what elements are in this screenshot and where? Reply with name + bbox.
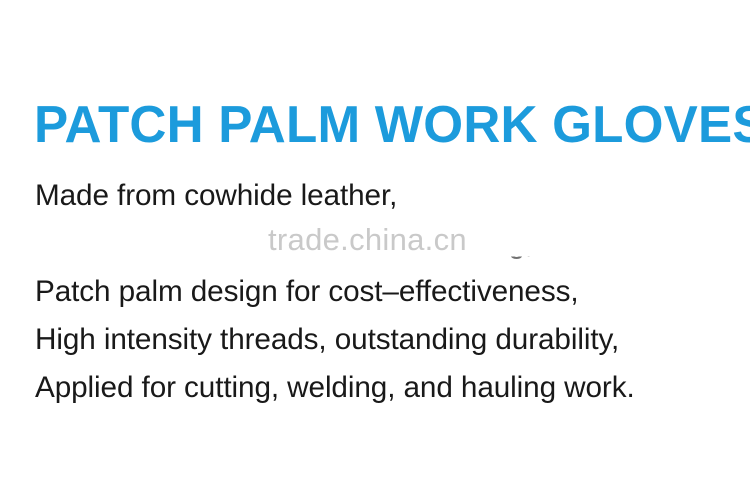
description-line-design: Patch palm design for cost–effectiveness…: [35, 268, 728, 316]
occluded-text-remnant: Soft and comfortable for long wearing,: [35, 220, 728, 268]
description-line-durability: High intensity threads, outstanding dura…: [35, 316, 728, 364]
description-list: Made from cowhide leather, Soft and comf…: [35, 172, 735, 412]
description-line-application: Applied for cutting, welding, and haulin…: [35, 364, 728, 412]
page-title: PATCH PALM WORK GLOVES: [34, 96, 714, 154]
watermark-knockout-mask: [29, 216, 494, 260]
product-description-banner: PATCH PALM WORK GLOVES Made from cowhide…: [0, 0, 750, 500]
description-line-material: Made from cowhide leather,: [35, 172, 728, 220]
description-line-occluded: Soft and comfortable for long wearing,: [35, 220, 728, 268]
